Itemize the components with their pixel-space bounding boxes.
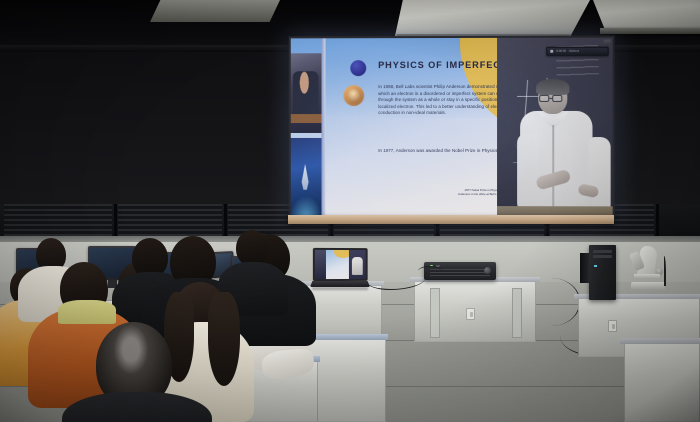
filmstrip-divider [321,38,325,218]
slide-left-filmstrip [291,38,322,218]
player-timecode: 0:00:00 [556,50,566,53]
laptop-screen[interactable] [315,250,366,279]
presenter-laptop[interactable] [310,248,370,290]
power-outlet [608,320,617,332]
nobel-medal-icon [343,85,364,106]
window-corner-icon[interactable] [604,40,611,46]
power-cable [418,266,442,276]
anderson-figure [516,81,609,220]
player-dot-icon [550,50,553,53]
volume-knob[interactable] [484,267,491,274]
low-cabinet [624,342,700,422]
tower-side-panel [580,253,589,283]
table-leg [430,288,440,338]
filmstrip-photo-portrait [291,53,322,133]
cabinet-top [620,338,700,344]
player-overlay-toolbar[interactable]: 0:00:00 Options [546,47,608,56]
power-led [594,265,597,267]
filmstrip-photo-launch [291,138,322,216]
ceiling-light-fixture [395,0,590,36]
lab-microscope[interactable] [630,246,668,294]
anderson-photograph [497,38,613,220]
ceiling-light-fixture [150,0,280,22]
laptop-lid [313,248,368,281]
ceiling-light-fixture-edge [600,28,700,34]
projection-screen: PHYSICS OF IMPERFECT CRYSTALS In 1958, B… [289,36,615,222]
player-options-label[interactable]: Options [569,50,579,53]
desktop-computer-tower[interactable] [589,245,616,300]
blue-dot-icon [350,60,366,76]
ceiling-light-fixture [593,0,700,30]
lecture-room-photo: PHYSICS OF IMPERFECT CRYSTALS In 1958, B… [0,0,700,422]
power-outlet [466,308,475,320]
screen-bottom-rail [288,215,614,224]
presentation-slide: PHYSICS OF IMPERFECT CRYSTALS In 1958, B… [291,38,613,220]
